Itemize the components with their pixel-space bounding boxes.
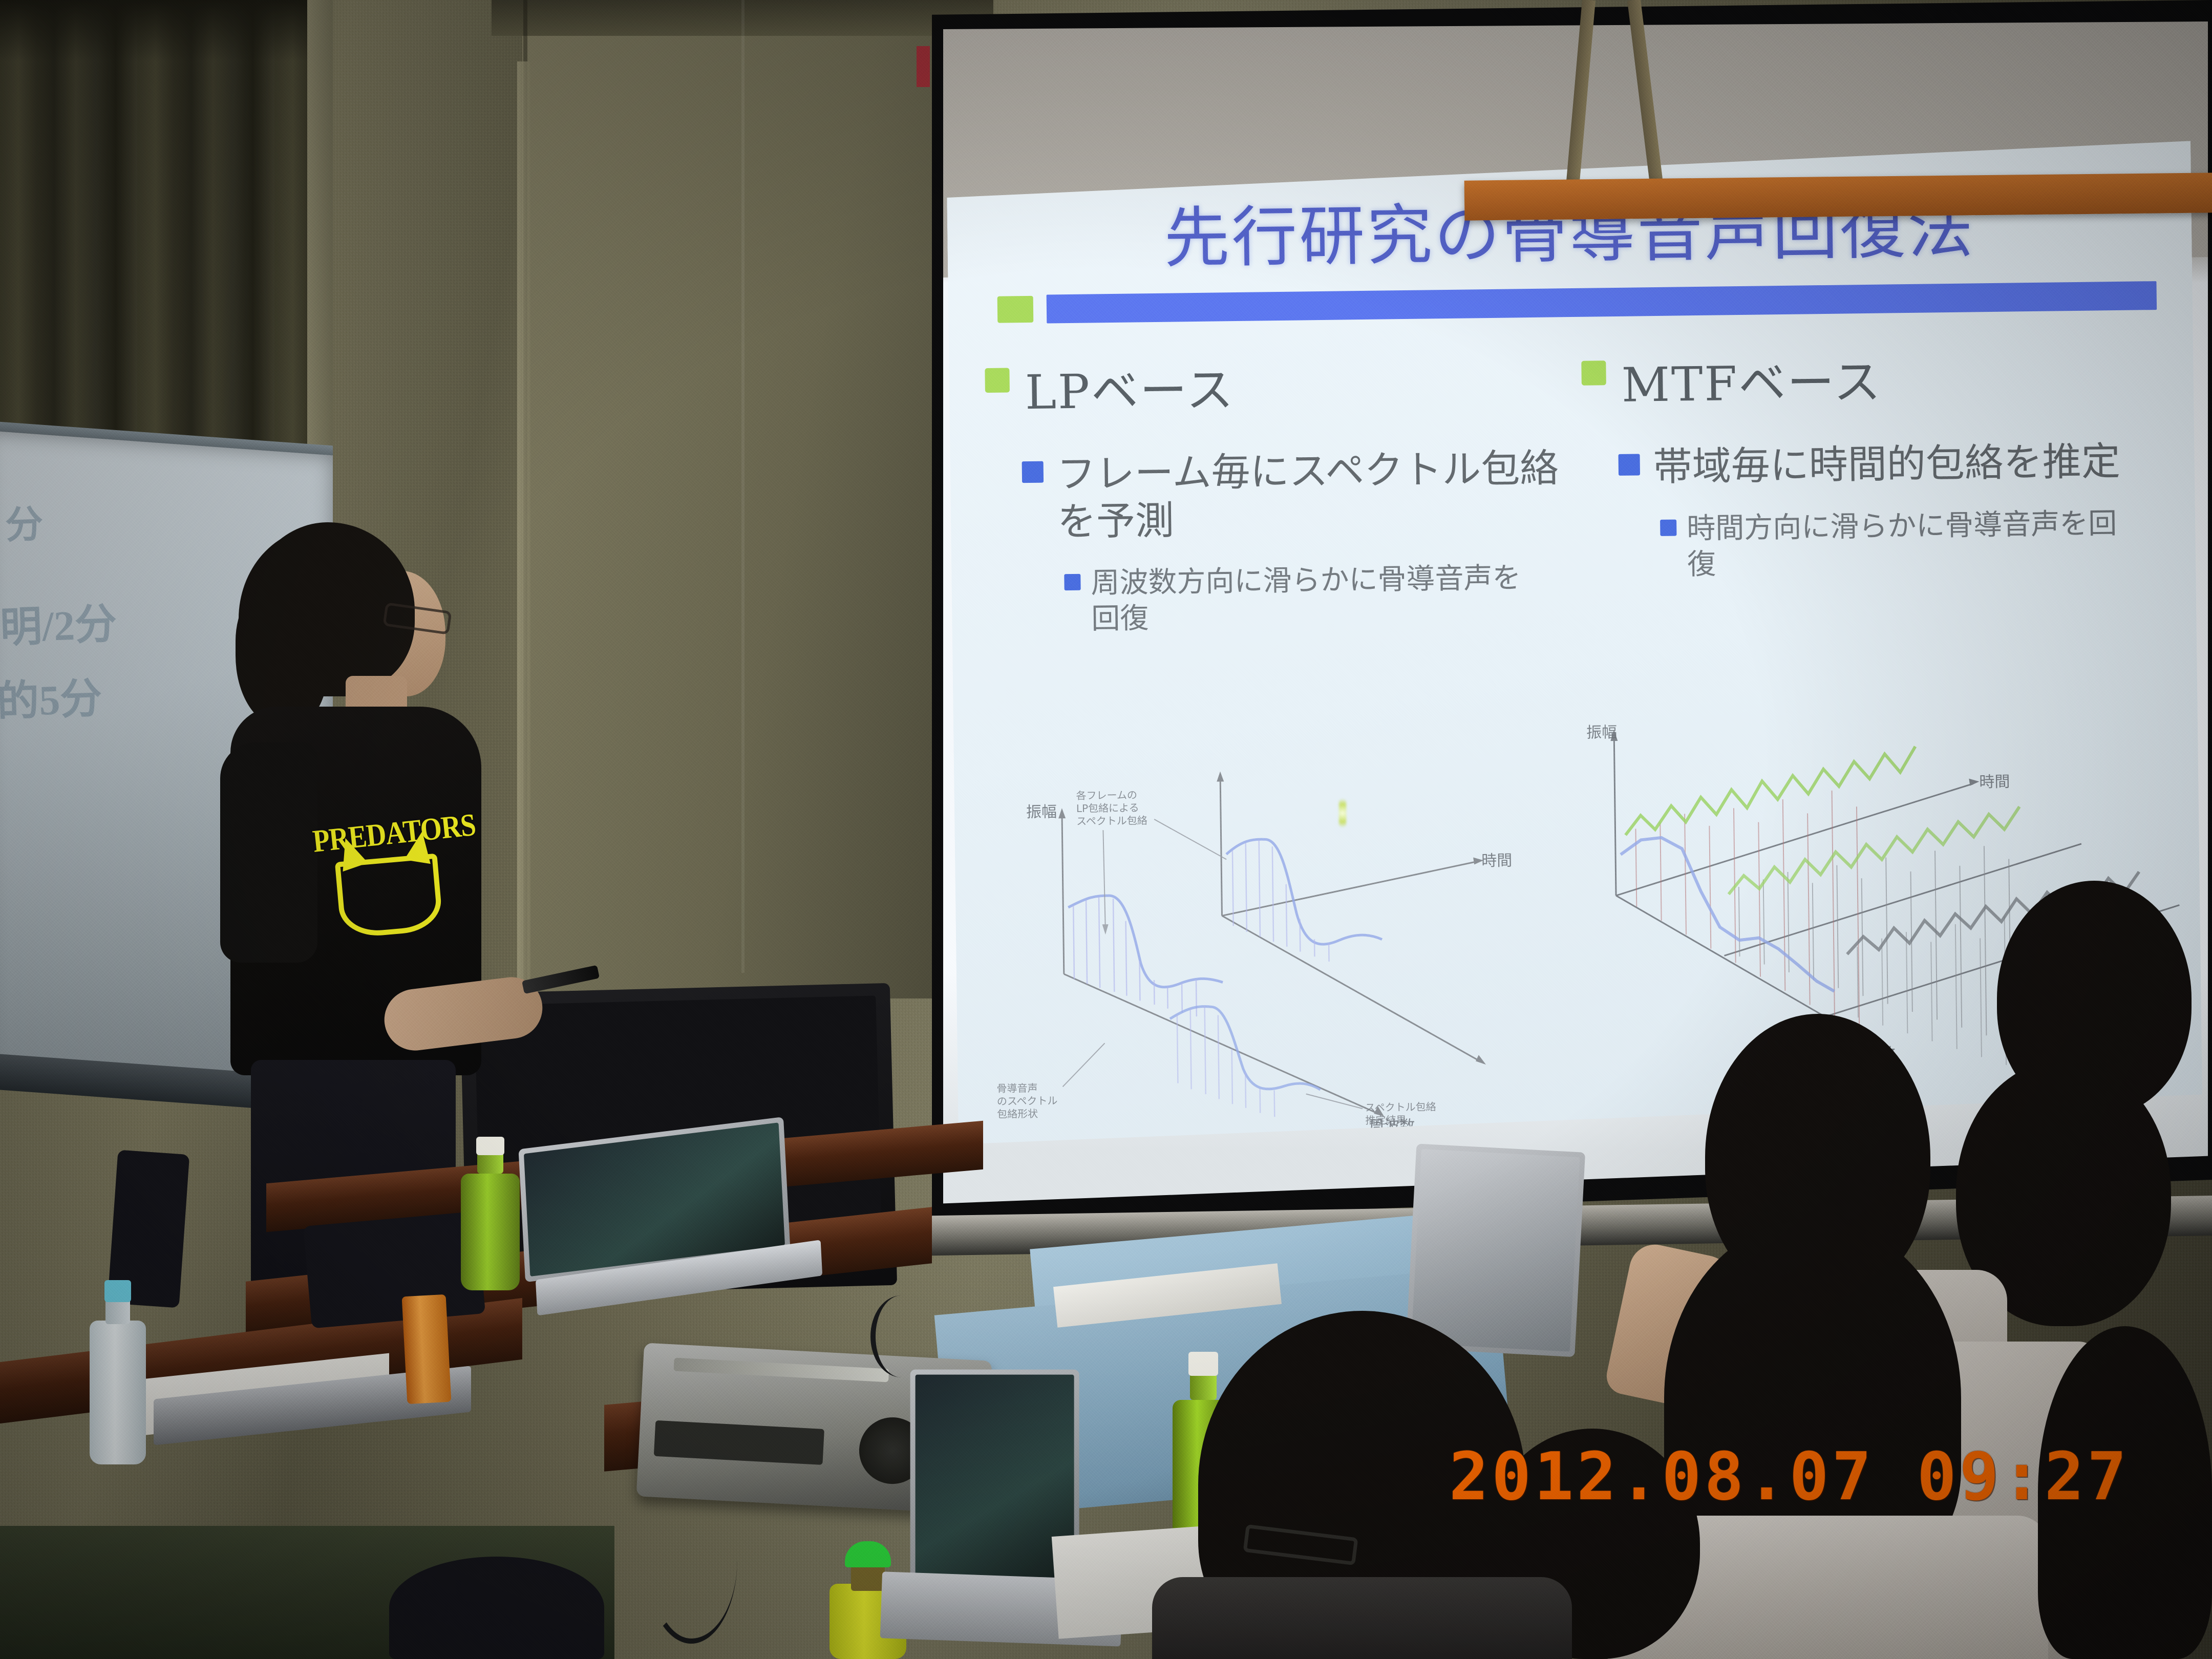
green-tea-bottle — [461, 1137, 520, 1290]
wall-seam — [741, 0, 745, 973]
wall-sticker — [917, 46, 930, 87]
laptop-screen — [916, 1375, 1074, 1580]
whiteboard-note: 的5分 — [0, 664, 103, 728]
bullet-square-blue-small-icon — [1660, 519, 1676, 536]
lp-level3-text: 周波数方向に滑らかに骨導音声を回復 — [1091, 560, 1542, 637]
bullet-level2: フレーム毎にスペクトル包絡を予測 — [1022, 444, 1563, 546]
bottle-cap — [845, 1541, 891, 1567]
cable — [645, 1475, 737, 1644]
lp-annotation-top: 各フレームの LP包絡による スペクトル包絡 — [1076, 789, 1147, 828]
mtf-level3-text: 時間方向に滑らかに骨導音声を回復 — [1687, 505, 2138, 583]
bullet-level3: 周波数方向に滑らかに骨導音声を回復 — [1064, 560, 1564, 638]
mtf-axis-time-label: 時間 — [1979, 769, 2010, 792]
orange-can — [402, 1294, 452, 1404]
mtf-heading: MTFベース — [1621, 344, 1882, 415]
slide-columns: LPベース フレーム毎にスペクトル包絡を予測 周波数方向に滑らかに骨導音声を回復 — [985, 341, 2161, 639]
presenter-sleeve — [220, 742, 317, 963]
lp-axis-time-label: 時間 — [1481, 848, 1513, 871]
bullet-level3: 時間方向に滑らかに骨導音声を回復 — [1660, 505, 2160, 583]
lp-diagram: 振幅 時間 周波数 各フレームの LP包絡による スペクトル包絡 骨導音声 のス… — [985, 754, 1501, 1129]
laser-pointer-dot — [1339, 799, 1346, 827]
bullet-square-green-icon — [1581, 360, 1606, 386]
whiteboard-note: 分 — [4, 494, 44, 550]
bullet-square-blue-icon — [1619, 454, 1641, 476]
chair — [303, 1211, 485, 1329]
laptop-presenter — [518, 1123, 844, 1314]
chair-foreground — [389, 1557, 604, 1659]
projector-controls — [674, 1358, 889, 1382]
whiteboard-note: 明/2分 — [0, 589, 118, 654]
wooden-beam — [1464, 173, 2212, 220]
bottle-cap — [476, 1137, 504, 1155]
bottle-body — [90, 1321, 146, 1464]
divider-bar — [1047, 281, 2157, 323]
wall-panel — [522, 0, 942, 998]
lp-axis-amplitude-label: 振幅 — [1026, 799, 1057, 822]
bullet-square-blue-icon — [1022, 461, 1044, 483]
lp-level2-text: フレーム毎にスペクトル包絡を予測 — [1056, 444, 1563, 545]
mtf-axis-amplitude-label: 振幅 — [1586, 719, 1618, 742]
mtf-level2-text: 帯域毎に時間的包絡を推定 — [1653, 438, 2120, 491]
projector-ports — [654, 1420, 824, 1465]
lp-annotation-left: 骨導音声 のスペクトル 包絡形状 — [996, 1081, 1058, 1120]
bottle-cap — [104, 1280, 132, 1302]
lp-annotation-bottom: スペクトル包絡 推定結果 — [1365, 1100, 1436, 1127]
photo-canvas: 分 明/2分 的5分 先行研究の骨導音声回復法 LPベース — [0, 0, 2212, 1659]
bullet-level1: MTFベース — [1581, 341, 2158, 416]
bullet-square-green-icon — [985, 368, 1010, 393]
audience-shoulders — [1152, 1577, 1572, 1659]
slide-column-mtf: MTFベース 帯域毎に時間的包絡を推定 時間方向に滑らかに骨導音声を回復 — [1581, 341, 2161, 631]
lp-diagram-svg — [985, 754, 1501, 1129]
title-divider — [997, 281, 2157, 324]
lp-heading: LPベース — [1025, 352, 1235, 422]
slide-column-lp: LPベース フレーム毎にスペクトル包絡を予測 周波数方向に滑らかに骨導音声を回復 — [985, 348, 1564, 639]
laptop-lid — [1406, 1144, 1585, 1357]
bullet-square-blue-small-icon — [1064, 574, 1080, 590]
bullet-level2: 帯域毎に時間的包絡を推定 — [1618, 437, 2159, 492]
photo-timestamp: 2012.08.07 09:27 — [1449, 1439, 2130, 1515]
bottle-cap — [1188, 1352, 1218, 1376]
curtain-shadow — [0, 0, 328, 61]
laptop-screen — [1411, 1149, 1580, 1352]
water-bottle — [90, 1280, 146, 1464]
bottle-body — [461, 1174, 520, 1290]
bullet-level1: LPベース — [985, 348, 1562, 423]
divider-square-icon — [997, 296, 1034, 323]
